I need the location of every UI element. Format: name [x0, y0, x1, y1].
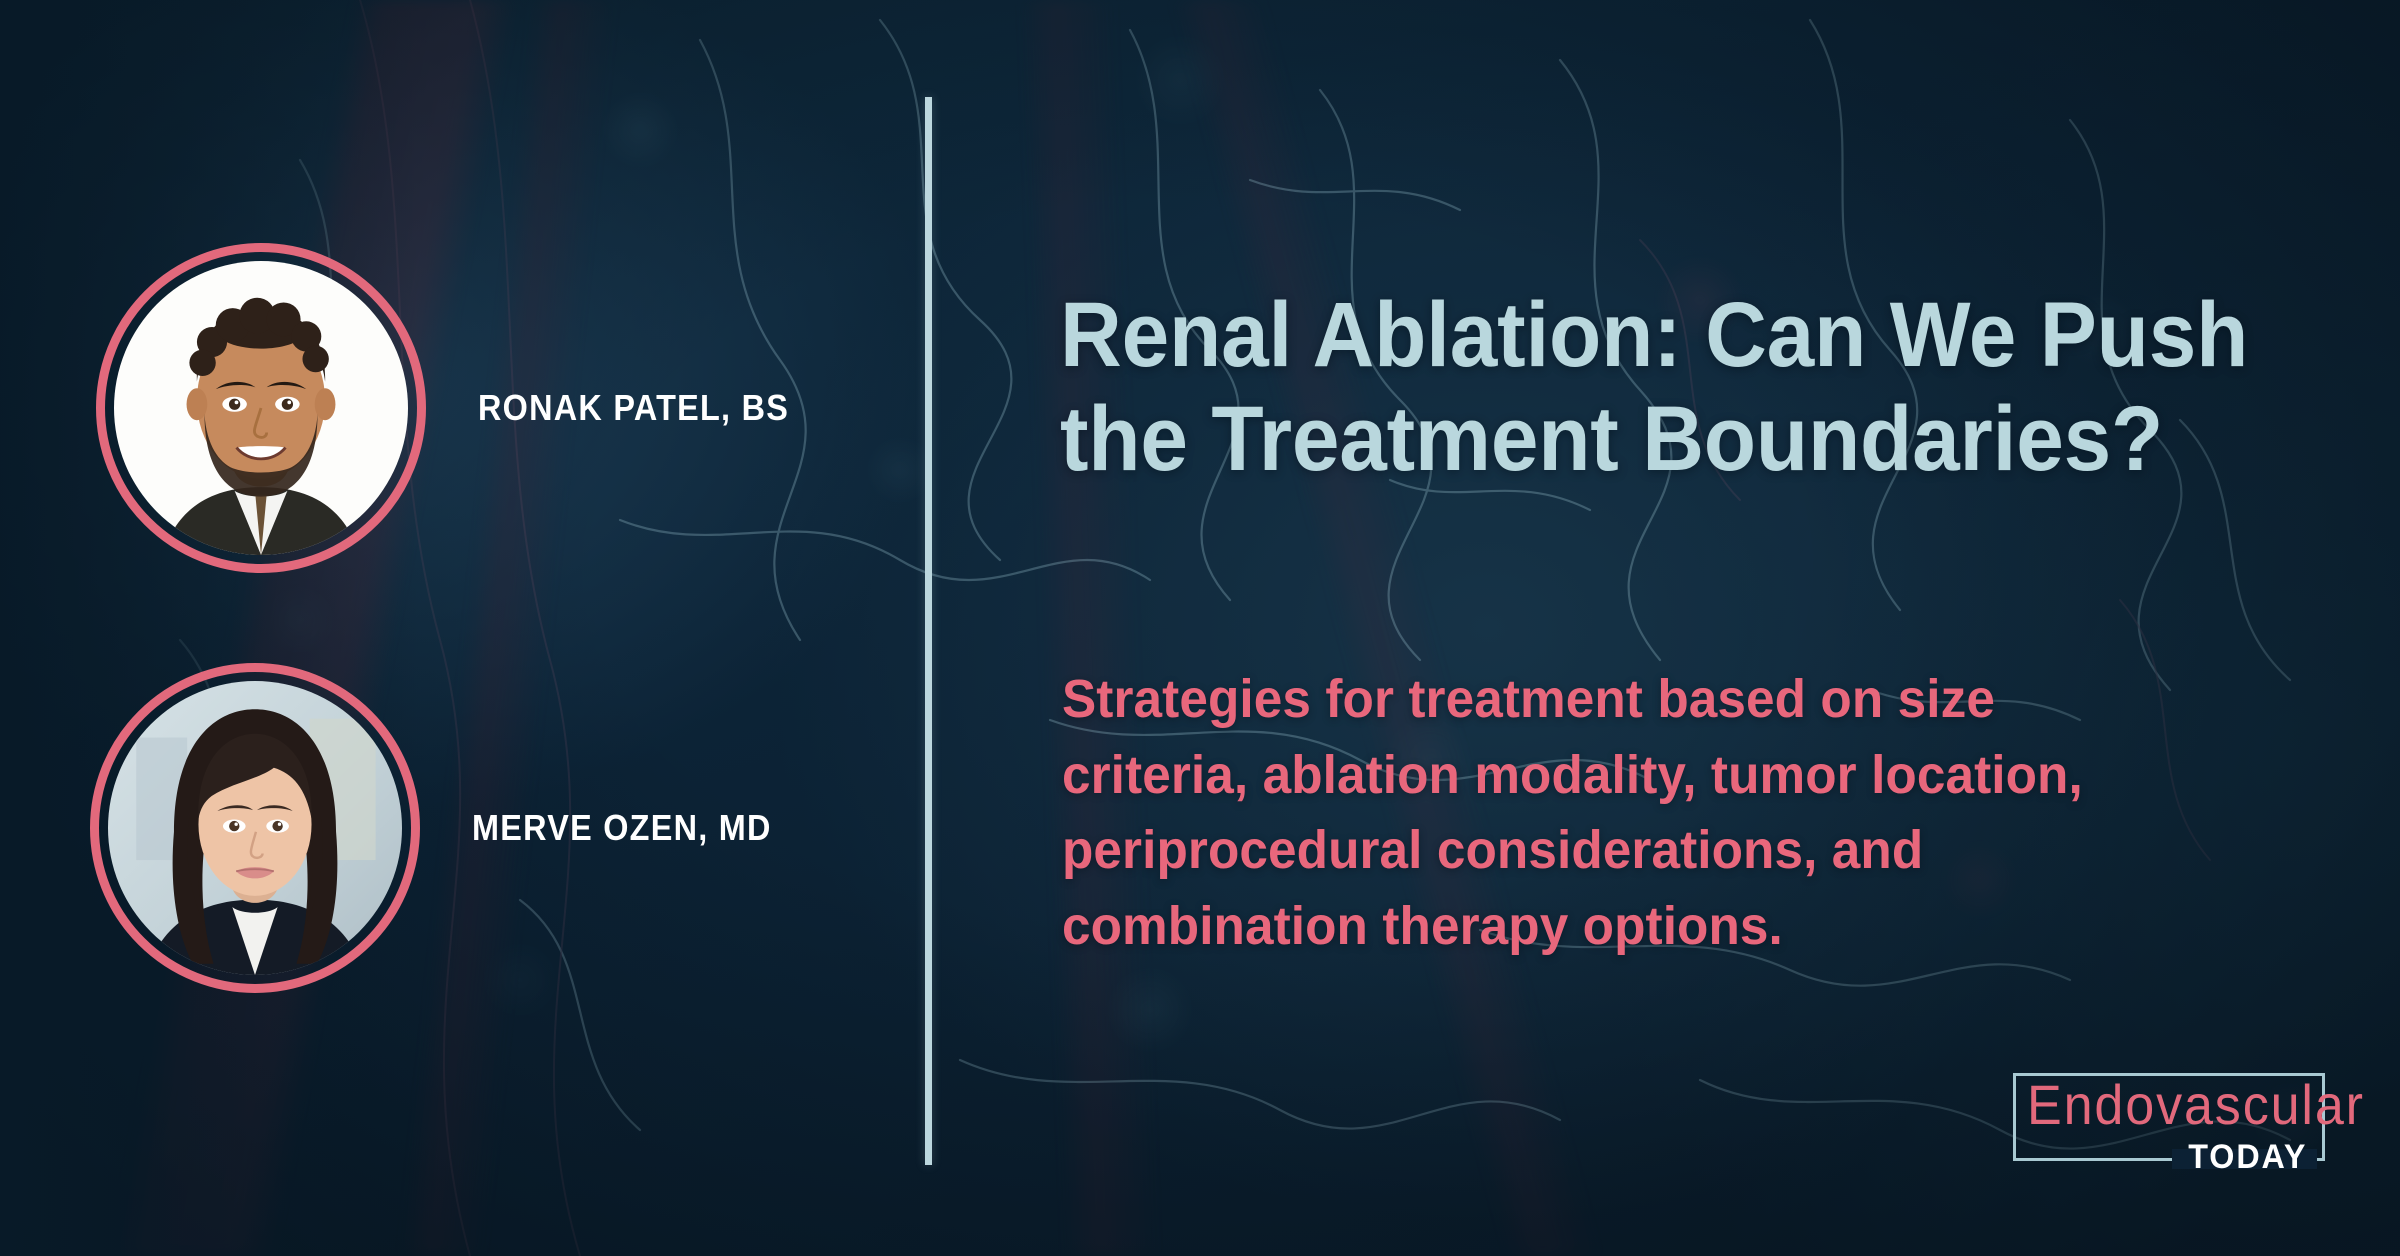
logo-wordmark: Endovascular: [2027, 1077, 2365, 1133]
avatar-ring-2: [90, 663, 420, 993]
portrait-merve-ozen-image: [108, 681, 402, 975]
page-title: Renal Ablation: Can We Push the Treatmen…: [1060, 284, 2232, 492]
speaker-card-1: RONAK PATEL, BS: [96, 243, 824, 573]
speakers-column: RONAK PATEL, BS: [0, 0, 925, 1256]
promo-slide: RONAK PATEL, BS: [0, 0, 2400, 1256]
content-column: Renal Ablation: Can We Push the Treatmen…: [1060, 0, 2310, 1256]
title-line-1: Renal Ablation: Can We Push: [1060, 284, 2232, 388]
endovascular-today-logo[interactable]: Endovascular TODAY: [2013, 1073, 2325, 1161]
portrait-ronak-patel-image: [114, 261, 408, 555]
subtitle-line-3: periprocedural considerations, and: [1062, 813, 2240, 889]
speaker-card-2: MERVE OZEN, MD: [90, 663, 805, 993]
speaker-name-2: MERVE OZEN, MD: [472, 807, 772, 849]
subtitle-line-4: combination therapy options.: [1062, 889, 2240, 965]
subtitle-line-2: criteria, ablation modality, tumor locat…: [1062, 738, 2240, 814]
page-subtitle: Strategies for treatment based on size c…: [1062, 662, 2240, 964]
speaker-name-1: RONAK PATEL, BS: [478, 387, 789, 429]
avatar-1: [114, 261, 408, 555]
logo-today-wrap: TODAY: [2172, 1140, 2317, 1174]
vertical-divider: [925, 97, 932, 1165]
subtitle-line-1: Strategies for treatment based on size: [1062, 662, 2240, 738]
avatar-ring-1: [96, 243, 426, 573]
title-line-2: the Treatment Boundaries?: [1060, 388, 2232, 492]
logo-today-text: TODAY: [2188, 1140, 2307, 1174]
avatar-2: [108, 681, 402, 975]
